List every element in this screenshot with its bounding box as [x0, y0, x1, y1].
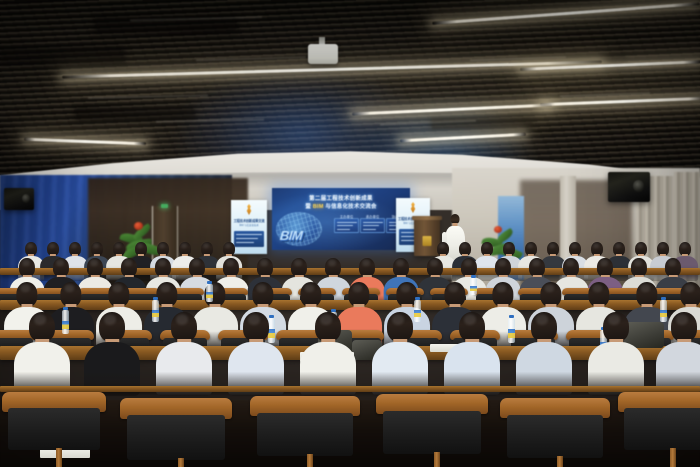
hair-highlight — [566, 259, 573, 265]
audience-member-head — [156, 282, 177, 307]
speaker-left — [4, 188, 34, 210]
audience-chair — [500, 398, 610, 458]
bottle-cap — [207, 281, 212, 284]
audience-member-head — [16, 282, 37, 307]
hair-highlight — [34, 314, 46, 324]
chair-leather-pad — [383, 411, 482, 454]
screen-info-card-line — [337, 222, 357, 223]
audience-chair — [250, 396, 360, 456]
water-bottle — [206, 284, 213, 302]
hair-highlight — [320, 314, 332, 324]
hair-highlight — [483, 243, 488, 248]
hair-highlight — [498, 259, 505, 265]
audience-chair — [376, 394, 488, 454]
audience-member — [516, 312, 572, 396]
hair-highlight — [536, 314, 548, 324]
bottle-cap — [509, 315, 514, 318]
hair-highlight — [464, 259, 471, 265]
screen-info-card: 承办单位 — [360, 218, 385, 233]
audience-member — [300, 312, 356, 396]
hair-highlight — [158, 259, 165, 265]
projection-screen: 第二届工程技术创新成果 暨 BIM 与信息化技术交流会 BIM 主办单位承办单位… — [272, 188, 410, 250]
audience-chair — [120, 398, 232, 460]
hair-highlight — [93, 243, 98, 248]
hair-highlight — [22, 259, 29, 265]
audience-member — [14, 312, 70, 396]
screen-info-card-line — [337, 225, 354, 226]
hair-highlight — [544, 284, 554, 292]
hair-highlight — [532, 259, 539, 265]
exit-sign-icon — [161, 204, 168, 208]
hair-highlight — [592, 284, 602, 292]
banner-subheading: BIM 与信息化技术 — [233, 223, 265, 227]
hair-highlight — [527, 243, 532, 248]
chair-leg — [557, 456, 563, 467]
screen-title-prefix: 暨 — [305, 204, 313, 210]
audience-member-head — [243, 312, 269, 342]
hair-highlight — [676, 314, 688, 324]
audience-member-head — [671, 312, 697, 342]
audience-member-head — [315, 312, 341, 342]
hair-highlight — [181, 243, 186, 248]
audience-member-head — [444, 282, 465, 307]
lectern-top — [412, 216, 442, 220]
bottle-cap — [153, 297, 158, 300]
hair-highlight — [256, 284, 266, 292]
hair-highlight — [668, 259, 675, 265]
audience-member-head — [387, 312, 413, 342]
water-bottle — [508, 318, 515, 343]
hair-highlight — [615, 243, 620, 248]
screen-title-line2: 暨 BIM 与信息化技术交流会 — [272, 202, 410, 210]
hair-highlight — [90, 259, 97, 265]
hair-highlight — [294, 259, 301, 265]
bottle-label — [508, 329, 515, 338]
screen-info-card-line — [363, 229, 377, 230]
audience-member — [372, 312, 428, 396]
hair-highlight — [226, 259, 233, 265]
chair-leg — [670, 448, 676, 467]
hair-highlight — [203, 243, 208, 248]
hair-highlight — [448, 284, 458, 292]
audience-member — [588, 312, 644, 396]
audience-member-head — [459, 312, 485, 342]
bottle-label — [206, 292, 213, 298]
hair-highlight — [352, 284, 362, 292]
audience-member — [156, 312, 212, 396]
bottle-label — [470, 286, 477, 292]
hair-highlight — [260, 259, 267, 265]
hair-highlight — [461, 243, 466, 248]
hair-highlight — [112, 284, 122, 292]
audience-member-head — [348, 282, 369, 307]
audience-member-head — [99, 312, 125, 342]
audience-member-head — [29, 312, 55, 342]
audience-member-head — [531, 312, 557, 342]
plant-flower-icon — [494, 226, 502, 233]
hair-highlight — [176, 314, 188, 324]
speaker-cone-icon — [22, 194, 30, 203]
audience-member-head — [252, 282, 273, 307]
chair-leg — [178, 458, 184, 467]
hair-highlight — [115, 243, 120, 248]
chair-leather-pad — [624, 408, 700, 450]
hair-highlight — [27, 243, 32, 248]
hair-highlight — [20, 284, 30, 292]
plant-flower-icon — [134, 222, 143, 230]
projector-icon — [308, 44, 338, 64]
hair-highlight — [49, 243, 54, 248]
hair-highlight — [400, 284, 410, 292]
audience-member-head — [588, 282, 609, 307]
bottle-cap — [63, 307, 68, 310]
projector-mount — [319, 37, 325, 44]
audience-member-head — [60, 282, 81, 307]
hair-highlight — [328, 259, 335, 265]
chair-leather-pad — [507, 415, 604, 458]
banner-logo-icon — [409, 202, 417, 213]
screen-title-line1: 第二届工程技术创新成果 — [272, 194, 410, 202]
hair-highlight — [640, 284, 650, 292]
audience-member-head — [603, 312, 629, 342]
speaker-cone-icon — [633, 180, 644, 193]
ceiling-panel — [76, 108, 194, 120]
audience-chair — [618, 392, 700, 450]
chair-leather-pad — [8, 408, 100, 450]
water-bottle — [470, 278, 477, 295]
audience-member — [84, 312, 140, 396]
hair-highlight — [71, 243, 76, 248]
chair-leather-pad — [257, 413, 354, 456]
screen-info-card-line — [363, 222, 383, 223]
hair-highlight — [392, 314, 404, 324]
hair-highlight — [571, 243, 576, 248]
hair-highlight — [505, 243, 510, 248]
hair-highlight — [56, 259, 63, 265]
audience-member-head — [300, 282, 321, 307]
hair-highlight — [225, 243, 230, 248]
ceiling-panel — [0, 48, 124, 64]
bottle-cap — [661, 297, 666, 300]
hair-highlight — [634, 259, 641, 265]
screen-info-card-line — [337, 229, 351, 230]
speaker-right — [608, 172, 650, 202]
screen-info-card-caption: 承办单位 — [361, 214, 384, 219]
hair-highlight — [659, 243, 664, 248]
audience-member — [228, 312, 284, 396]
chair-leg — [434, 452, 440, 467]
hair-highlight — [192, 259, 199, 265]
hair-highlight — [104, 314, 116, 324]
hair-highlight — [684, 284, 694, 292]
hair-highlight — [608, 314, 620, 324]
audience-member-head — [636, 282, 657, 307]
chair-leather-pad — [127, 415, 226, 460]
hair-highlight — [124, 259, 131, 265]
hair-highlight — [637, 243, 642, 248]
hair-highlight — [439, 243, 444, 248]
hair-highlight — [362, 259, 369, 265]
audience-member-head — [492, 282, 513, 307]
screen-info-card-caption: 主办单位 — [335, 214, 358, 219]
hair-highlight — [496, 284, 506, 292]
hair-highlight — [159, 243, 164, 248]
ceiling-panel — [432, 118, 532, 129]
audience-member-head — [540, 282, 561, 307]
audience-member — [656, 312, 700, 396]
screen-title-highlight: BIM — [313, 204, 324, 210]
chair-leg — [56, 448, 62, 467]
hair-highlight — [160, 284, 170, 292]
bottle-cap — [471, 275, 476, 278]
hair-highlight — [464, 314, 476, 324]
audience-member-head — [680, 282, 700, 307]
audience-chair — [2, 392, 106, 450]
hair-highlight — [430, 259, 437, 265]
hair-highlight — [64, 284, 74, 292]
screen-info-card-line — [363, 225, 380, 226]
hair-highlight — [396, 259, 403, 265]
audience-member-head — [108, 282, 129, 307]
hair-highlight — [600, 259, 607, 265]
audience-member — [444, 312, 500, 396]
audience-member-head — [171, 312, 197, 342]
screen-info-card: 主办单位 — [334, 218, 359, 233]
hair-highlight — [304, 284, 314, 292]
bottle-cap — [415, 297, 420, 300]
hair-highlight — [681, 243, 686, 248]
screen-title-suffix: 与信息化技术交流会 — [324, 204, 377, 210]
hair-highlight — [593, 243, 598, 248]
banner-logo-icon — [245, 204, 253, 215]
chair-leg — [307, 454, 313, 467]
hair-highlight — [549, 243, 554, 248]
hair-highlight — [248, 314, 260, 324]
hair-highlight — [137, 243, 142, 248]
bim-wordmark: BIM — [279, 228, 303, 243]
conference-hall-photo: 第二届工程技术创新成果 暨 BIM 与信息化技术交流会 BIM 主办单位承办单位… — [0, 0, 700, 467]
